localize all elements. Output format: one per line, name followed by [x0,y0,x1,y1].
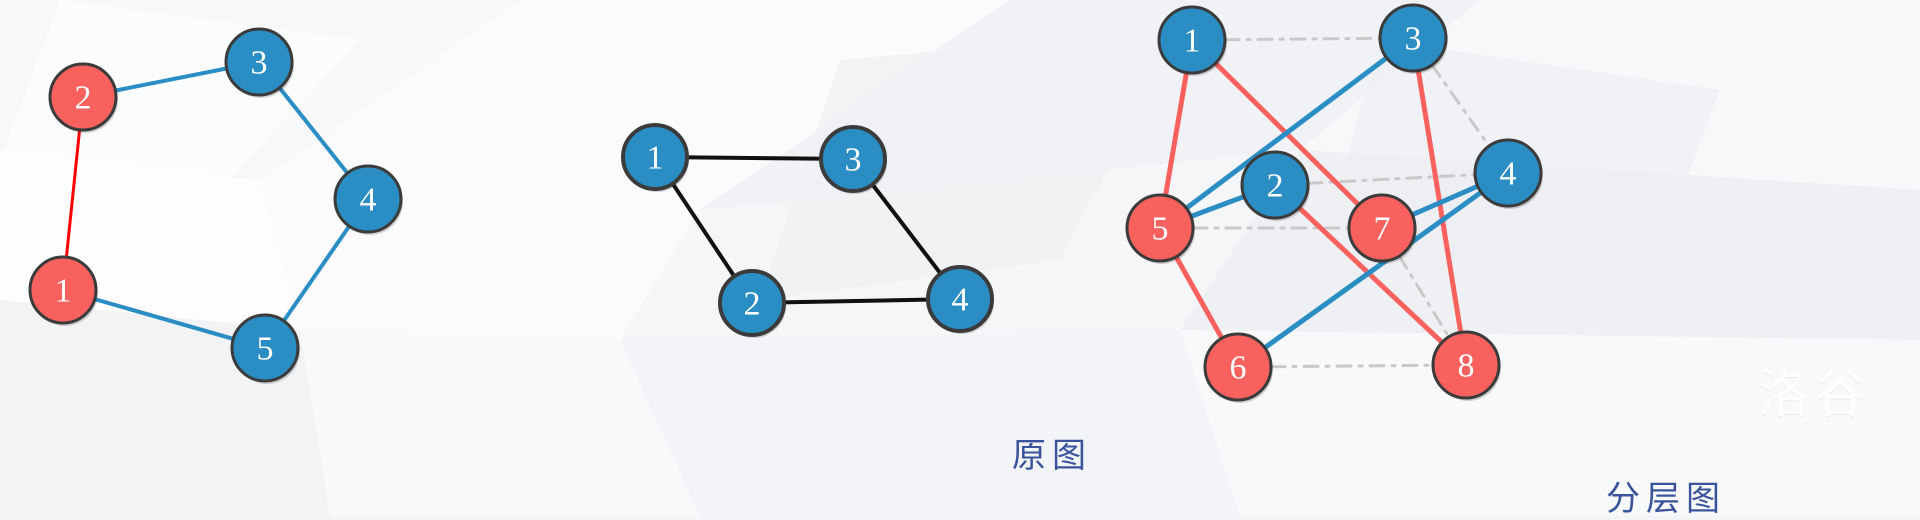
caption-layered-graph: 分层图 [1606,471,1726,520]
graph-node[interactable]: 1 [30,257,98,326]
node-label: 4 [1500,156,1517,193]
node-label: 2 [1267,168,1284,205]
graph-node[interactable]: 1 [1159,7,1227,76]
graph-node[interactable]: 3 [226,29,294,98]
graph-node[interactable]: 5 [232,315,300,384]
graph-node[interactable]: 5 [1127,195,1195,264]
node-label: 8 [1458,348,1475,385]
node-label: 3 [251,45,268,82]
node-label: 4 [952,282,969,319]
graph-node[interactable]: 3 [821,127,887,194]
graph-node[interactable]: 2 [720,271,786,338]
node-label: 4 [360,182,377,219]
graph-node[interactable]: 6 [1205,334,1273,403]
node-label: 3 [1405,21,1422,58]
graphs-canvas: 12345132413245768 [0,0,1920,516]
node-label: 2 [75,80,92,117]
graph-node[interactable]: 8 [1433,332,1501,401]
node-label: 7 [1374,211,1391,248]
graph-node[interactable]: 1 [623,125,689,192]
node-label: 5 [257,331,274,368]
node-label: 5 [1152,211,1169,248]
graph-node[interactable]: 4 [928,267,994,334]
node-label: 1 [55,273,72,310]
graph-edge [1275,173,1508,185]
caption-original-graph: 原图 [1012,428,1092,477]
graph-node[interactable]: 2 [50,64,118,133]
graph-node[interactable]: 4 [335,166,403,235]
node-label: 1 [647,140,664,177]
graph-node[interactable]: 7 [1349,195,1417,264]
node-label: 6 [1230,350,1247,387]
node-label: 1 [1184,23,1201,60]
graph-node[interactable]: 4 [1475,140,1543,209]
node-label: 2 [744,286,761,323]
graph-node[interactable]: 3 [1380,5,1448,74]
nodes-layer: 12345132413245768 [30,5,1543,403]
node-label: 3 [845,142,862,179]
graph-node[interactable]: 2 [1242,152,1310,221]
